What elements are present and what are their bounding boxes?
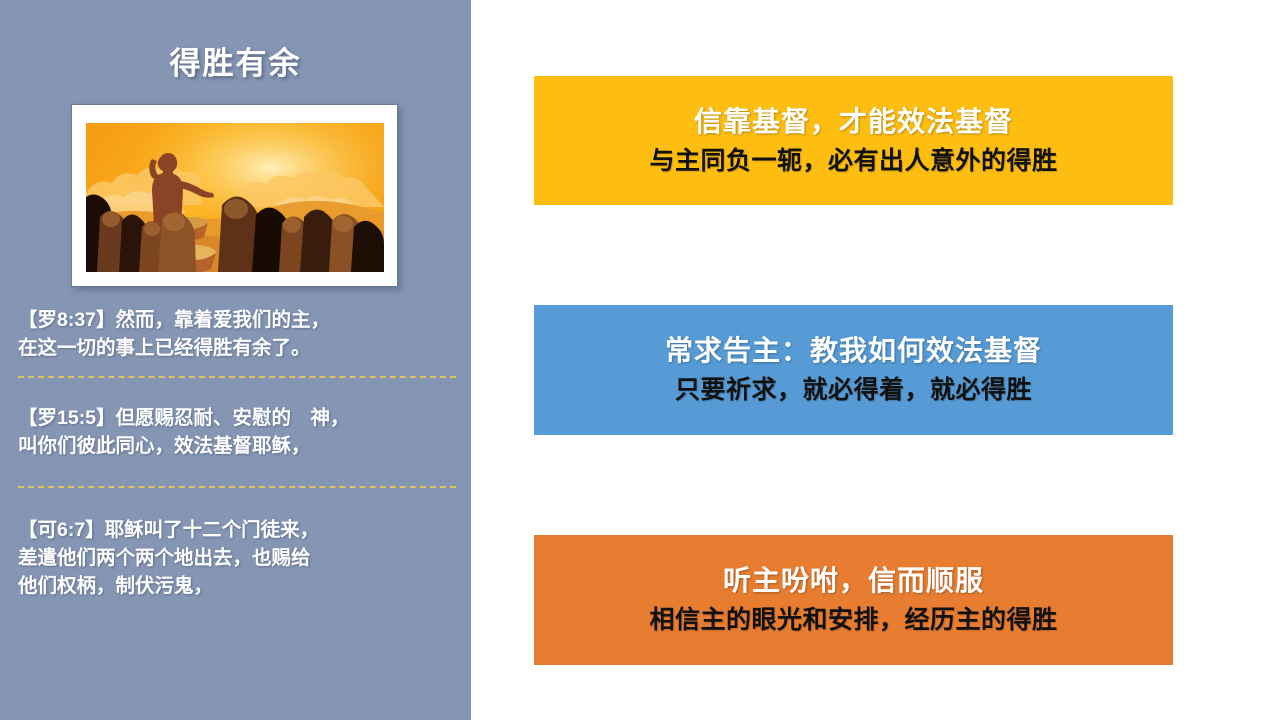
banner-subline: 相信主的眼光和安排，经历主的得胜 <box>649 603 1057 637</box>
jesus-teaching-crowd-illustration <box>86 123 384 272</box>
verse-line: 【罗15:5】但愿赐忍耐、安慰的 神， <box>18 404 458 432</box>
banner-headline: 听主吩咐，信而顺服 <box>723 563 984 599</box>
verse-line: 叫你们彼此同心，效法基督耶稣， <box>18 432 458 460</box>
point-banner-3: 听主吩咐，信而顺服 相信主的眼光和安排，经历主的得胜 <box>534 535 1173 665</box>
banner-headline: 常求告主：教我如何效法基督 <box>665 333 1042 369</box>
verse-item: 【罗15:5】但愿赐忍耐、安慰的 神， 叫你们彼此同心，效法基督耶稣， <box>18 404 458 460</box>
sidebar-panel: 得胜有余 <box>0 0 471 720</box>
verse-line: 差遣他们两个两个地出去，也赐给 <box>18 544 458 572</box>
verse-item: 【可6:7】耶稣叫了十二个门徒来， 差遣他们两个两个地出去，也赐给 他们权柄，制… <box>18 516 458 600</box>
illustration-frame <box>71 104 398 287</box>
verse-line: 他们权柄，制伏污鬼， <box>18 572 458 600</box>
presentation-slide: 得胜有余 <box>0 0 1280 720</box>
verse-line: 【可6:7】耶稣叫了十二个门徒来， <box>18 516 458 544</box>
banner-subline: 与主同负一轭，必有出人意外的得胜 <box>649 144 1057 178</box>
verse-divider <box>18 486 456 488</box>
banner-headline: 信靠基督，才能效法基督 <box>694 104 1013 140</box>
verse-divider <box>18 376 456 378</box>
point-banner-1: 信靠基督，才能效法基督 与主同负一轭，必有出人意外的得胜 <box>534 76 1173 205</box>
verse-line: 在这一切的事上已经得胜有余了。 <box>18 334 458 362</box>
point-banner-2: 常求告主：教我如何效法基督 只要祈求，就必得着，就必得胜 <box>534 305 1173 435</box>
banner-subline: 只要祈求，就必得着，就必得胜 <box>675 373 1032 407</box>
page-title: 得胜有余 <box>0 38 471 83</box>
verse-item: 【罗8:37】然而，靠着爱我们的主， 在这一切的事上已经得胜有余了。 <box>18 306 458 362</box>
verse-list: 【罗8:37】然而，靠着爱我们的主， 在这一切的事上已经得胜有余了。 【罗15:… <box>18 306 458 600</box>
verse-line: 【罗8:37】然而，靠着爱我们的主， <box>18 306 458 334</box>
